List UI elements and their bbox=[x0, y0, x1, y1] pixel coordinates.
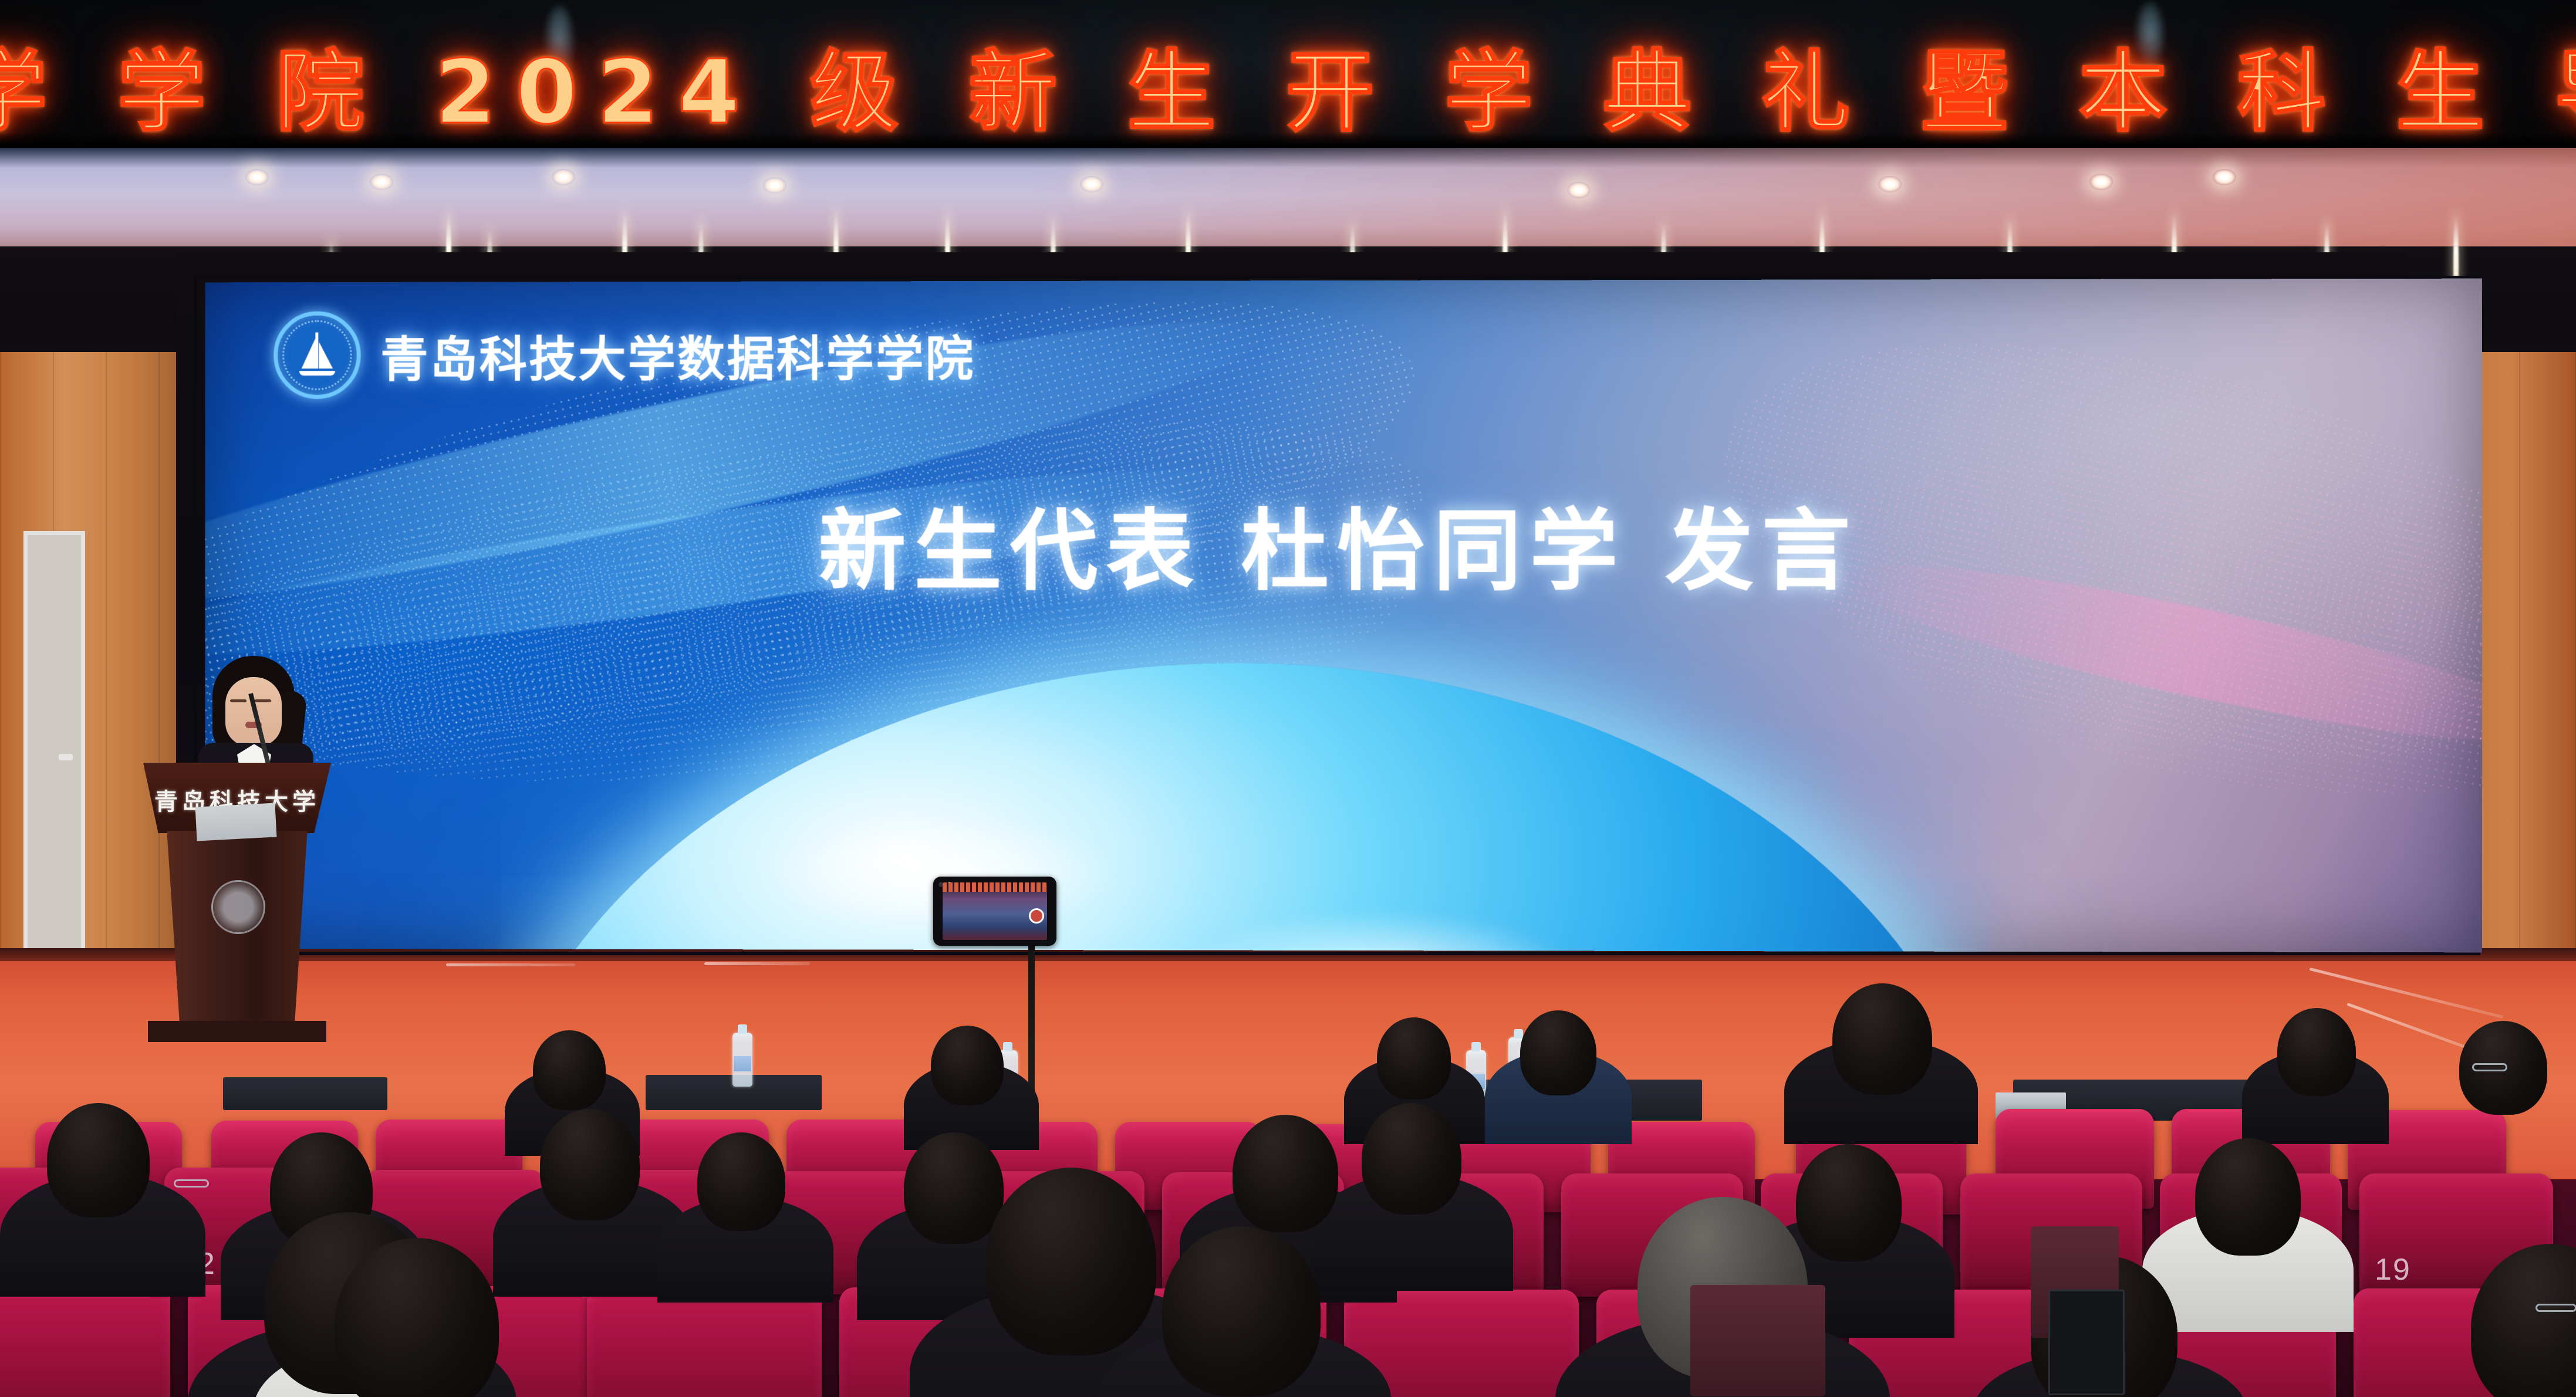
ceiling-warm-wash bbox=[0, 146, 2576, 257]
screen-header: 青岛科技大学数据科学学院 bbox=[274, 310, 975, 399]
university-logo-icon bbox=[274, 312, 360, 399]
ceiling-downlight bbox=[552, 169, 575, 185]
tablet-device[interactable] bbox=[2048, 1290, 2125, 1395]
audience-head bbox=[2195, 1138, 2301, 1256]
seat-number: 19 bbox=[2375, 1252, 2411, 1287]
audience-head bbox=[1796, 1144, 1902, 1261]
audience-head bbox=[1520, 1010, 1596, 1095]
eyeglasses bbox=[174, 1179, 209, 1188]
speaker-brow bbox=[255, 699, 271, 702]
front-desk bbox=[223, 1077, 387, 1110]
water-bottle[interactable] bbox=[732, 1033, 752, 1087]
audience-head bbox=[697, 1132, 785, 1231]
ceiling-downlight bbox=[763, 177, 786, 194]
ceiling-downlight bbox=[1080, 176, 1103, 192]
audience-head bbox=[931, 1026, 1004, 1105]
audience-head bbox=[2277, 1008, 2356, 1096]
ceiling-downlight bbox=[2213, 169, 2236, 185]
audience-head bbox=[1233, 1115, 1338, 1232]
stage-cable bbox=[446, 963, 575, 966]
ceiling-downlight bbox=[1878, 176, 1902, 192]
record-button[interactable] bbox=[1029, 908, 1044, 924]
audience-head bbox=[1377, 1017, 1451, 1100]
door-handle[interactable] bbox=[59, 754, 73, 760]
audience-head bbox=[1162, 1226, 1321, 1396]
smartphone-recording[interactable] bbox=[933, 877, 1056, 946]
ceiling-downlight bbox=[370, 174, 393, 190]
phone-filmstrip bbox=[943, 882, 1047, 892]
eyeglasses bbox=[2472, 1063, 2507, 1071]
audience-head bbox=[533, 1030, 606, 1110]
presentation-screen: 青岛科技大学数据科学学院 新生代表 杜怡同学 发言 bbox=[205, 279, 2483, 953]
backpack bbox=[1690, 1285, 1825, 1396]
ceiling-downlight bbox=[2089, 174, 2113, 190]
screen-org-name: 青岛科技大学数据科学学院 bbox=[380, 319, 975, 390]
led-banner: 学 学 院 2024 级 新 生 开 学 典 礼 暨 本 科 生 导 师 聘 任 bbox=[0, 0, 2576, 148]
audience-head bbox=[47, 1103, 150, 1217]
ceiling-downlight bbox=[1567, 182, 1591, 198]
audience-head bbox=[986, 1168, 1156, 1355]
sailboat-glyph bbox=[298, 332, 336, 378]
eyeglasses bbox=[2536, 1304, 2576, 1312]
screen-title: 新生代表 杜怡同学 发言 bbox=[205, 479, 2483, 607]
led-banner-text: 学 学 院 2024 级 新 生 开 学 典 礼 暨 本 科 生 导 师 聘 任 bbox=[0, 21, 2576, 148]
speaker-brow bbox=[230, 699, 247, 702]
phone-screen bbox=[943, 882, 1047, 940]
audience-head bbox=[1362, 1103, 1461, 1215]
speech-paper bbox=[195, 803, 277, 841]
seat[interactable]: 13 bbox=[0, 1283, 170, 1397]
podium-emblem bbox=[211, 880, 265, 934]
ceiling-downlight bbox=[245, 169, 269, 185]
stage-cable bbox=[704, 962, 810, 965]
auditorium-photo: 青岛科技大学数据科学学院 新生代表 杜怡同学 发言 青岛科技大学 bbox=[0, 0, 2576, 1397]
podium-base bbox=[148, 1021, 326, 1042]
audience-head bbox=[1832, 983, 1932, 1095]
audience-head bbox=[904, 1132, 1004, 1244]
audience-head bbox=[540, 1109, 640, 1220]
seat[interactable]: 18 bbox=[587, 1286, 822, 1397]
side-door[interactable] bbox=[23, 531, 85, 995]
globe-cloud bbox=[1173, 909, 1584, 953]
